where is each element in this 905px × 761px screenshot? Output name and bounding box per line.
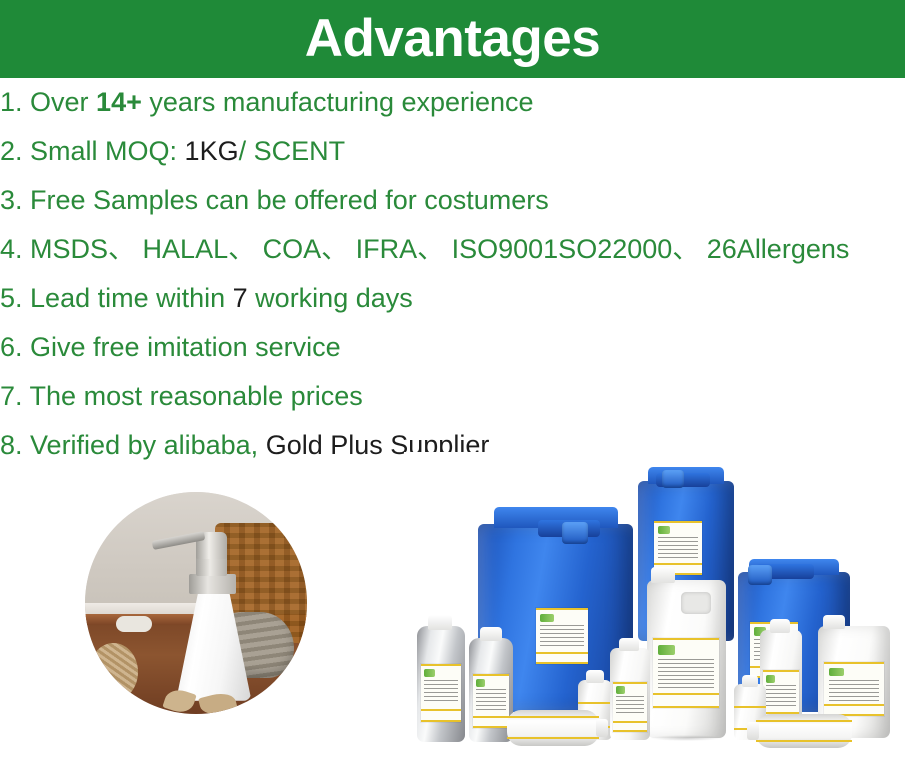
white-bottle-medium (610, 648, 650, 740)
advantage-number-4: 4. (0, 234, 23, 264)
label-text-lines (424, 680, 458, 704)
advantage-seg-6-0: Give free imitation service (23, 332, 341, 362)
label-logo (658, 645, 675, 656)
white-bottle-medium-cap (619, 638, 639, 651)
bottle-band (756, 740, 852, 742)
advantage-seg-8-0: Verified by alibaba, (23, 430, 266, 460)
advantage-number-1: 1. (0, 87, 23, 117)
label-stripe (653, 693, 719, 695)
advantage-item-5: 5. Lead time within 7 working days (0, 274, 905, 323)
advantage-seg-5-1: 7 (233, 283, 248, 313)
advantage-number-6: 6. (0, 332, 23, 362)
label-logo (540, 614, 554, 622)
label-text-lines (540, 625, 584, 648)
label-stripe (613, 721, 647, 723)
label-stripe (421, 709, 461, 711)
advantage-seg-2-0: Small MOQ: (23, 136, 185, 166)
jug-label (653, 638, 719, 708)
white-bottle-small-left-cap (586, 670, 604, 683)
bottle-band (734, 706, 766, 708)
jerrycan-cap-top (662, 470, 684, 488)
label-stripe (536, 652, 588, 654)
advantage-item-3: 3. Free Samples can be offered for costu… (0, 176, 905, 225)
label-text-lines (766, 685, 796, 707)
white-bottle-lying-left (507, 710, 599, 746)
advantage-seg-1-0: Over (23, 87, 97, 117)
jug-neck-right (823, 615, 845, 629)
advantage-item-4: 4. MSDS、 HALAL、 COA、 IFRA、 ISO9001SO2200… (0, 225, 905, 274)
white-bottle-lying-right (756, 714, 852, 748)
advantage-number-3: 3. (0, 185, 23, 215)
bottle-band (507, 716, 599, 718)
label-text-lines (829, 680, 879, 702)
jug-shadow (650, 735, 723, 741)
jerrycan-cap-right (748, 565, 772, 585)
page-banner: Advantages (0, 0, 905, 78)
white-bottle-tall-right-cap (770, 619, 790, 633)
label-stripe (654, 563, 702, 565)
label-text-lines (616, 696, 645, 716)
label-logo (424, 669, 434, 678)
photo-rattan-decor (89, 643, 138, 701)
label-logo (766, 675, 775, 683)
page-title: Advantages (305, 12, 600, 65)
lying-bottle-cap (747, 722, 759, 740)
photo-dispenser-collar (189, 574, 236, 594)
advantage-number-8: 8. (0, 430, 23, 460)
advantage-item-2: 2. Small MOQ: 1KG/ SCENT (0, 127, 905, 176)
label-text-lines (658, 537, 698, 559)
can-label (536, 608, 588, 664)
bottle-band (578, 702, 612, 704)
aluminum-bottle-large (417, 626, 465, 742)
label-logo (829, 668, 845, 676)
advantage-seg-1-1: 14+ (96, 87, 142, 117)
advantage-seg-2-1: 1KG (185, 136, 239, 166)
advantage-seg-2-2: / SCENT (239, 136, 346, 166)
jug-neck-center (651, 567, 675, 583)
advantage-number-2: 2. (0, 136, 23, 166)
advantage-seg-3-0: Free Samples can be offered for costumer… (23, 185, 549, 215)
advantage-seg-5-0: Lead time within (23, 283, 233, 313)
label-logo (658, 526, 670, 534)
advantage-item-6: 6. Give free imitation service (0, 323, 905, 372)
fragrance-packaging-lineup-photo (404, 452, 905, 761)
advantage-item-1: 1. Over 14+ years manufacturing experien… (0, 78, 905, 127)
jerrycan-cap-left (562, 522, 588, 544)
jug-handle-cutout (681, 592, 711, 614)
advantage-seg-4-0: MSDS、 HALAL、 COA、 IFRA、 ISO9001SO22000、 … (23, 234, 850, 264)
advantage-seg-5-2: working days (248, 283, 413, 313)
bathroom-soap-dispenser-photo (85, 492, 307, 714)
label-text-lines (476, 689, 506, 711)
lying-bottle-cap (596, 719, 608, 737)
advantage-number-5: 5. (0, 283, 23, 313)
label-logo (616, 686, 625, 693)
white-jug-center (647, 580, 726, 738)
label-text-lines (658, 659, 713, 688)
aluminum-bottle-label (421, 664, 461, 722)
white-bottle-small-right-cap (742, 675, 758, 687)
advantage-item-7: 7. The most reasonable prices (0, 372, 905, 421)
advantage-seg-1-2: years manufacturing experience (142, 87, 534, 117)
advantage-number-7: 7. (0, 381, 23, 411)
aluminum-bottle-label (473, 674, 509, 728)
label-stripe (473, 716, 509, 718)
aluminum-bottle-large-cap (428, 615, 452, 630)
jug-label (824, 662, 884, 716)
aluminum-bottle-small-cap (480, 627, 502, 641)
label-logo (476, 679, 485, 687)
bottle-band (507, 737, 599, 739)
bottle-label (613, 682, 647, 732)
advantage-seg-7-0: The most reasonable prices (23, 381, 363, 411)
photo-soap-bar (116, 616, 152, 632)
advantages-page: Advantages 1. Over 14+ years manufacturi… (0, 0, 905, 761)
bottle-band (756, 720, 852, 722)
advantages-list: 1. Over 14+ years manufacturing experien… (0, 78, 905, 470)
label-stripe (824, 704, 884, 706)
